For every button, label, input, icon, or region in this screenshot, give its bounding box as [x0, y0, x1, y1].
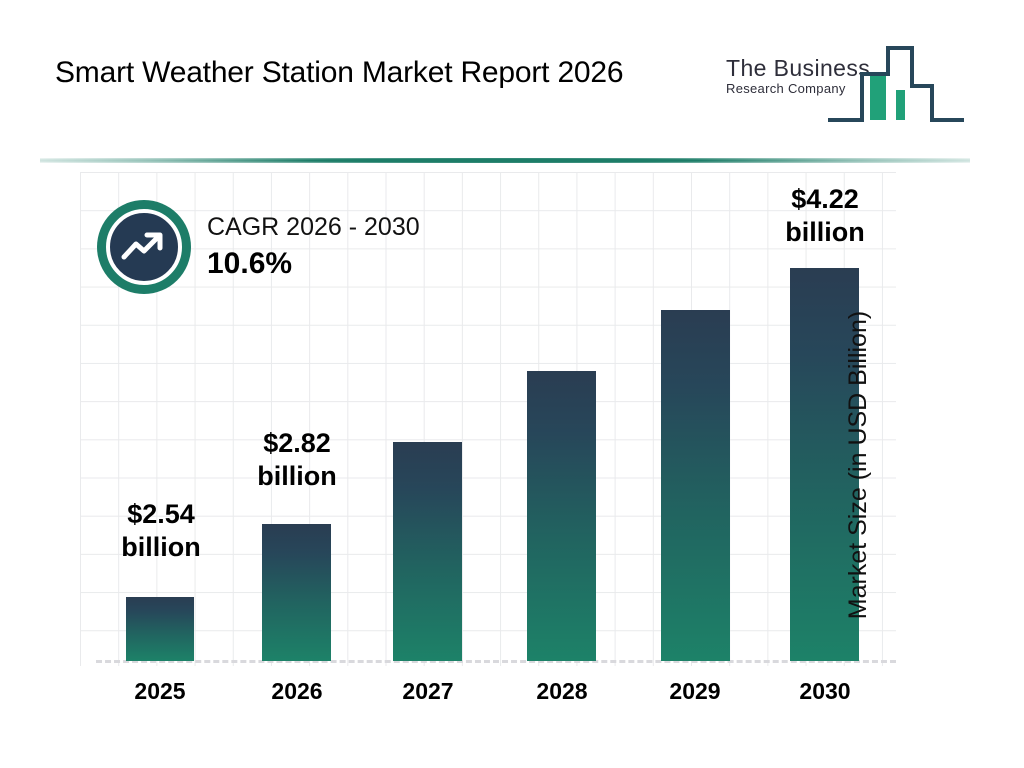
chart-baseline — [96, 660, 896, 663]
bar-2027[interactable] — [393, 442, 462, 661]
cagr-value-label: 10.6% — [207, 244, 420, 284]
value-label-2026-unit: billion — [232, 460, 362, 493]
x-tick-2028: 2028 — [502, 678, 622, 705]
cagr-badge — [97, 200, 191, 294]
cagr-callout: CAGR 2026 - 2030 10.6% — [97, 200, 517, 310]
value-label-2026-amount: $2.82 — [232, 427, 362, 460]
y-axis-title: Market Size (in USD Billion) — [844, 290, 873, 640]
bar-2028[interactable] — [527, 371, 596, 661]
bar-2025[interactable] — [126, 597, 194, 661]
x-tick-2026: 2026 — [237, 678, 357, 705]
value-label-2026: $2.82 billion — [232, 427, 362, 493]
value-label-2025: $2.54 billion — [96, 498, 226, 564]
value-label-2030-amount: $4.22 — [760, 183, 890, 216]
x-tick-2025: 2025 — [100, 678, 220, 705]
bar-2026[interactable] — [262, 524, 331, 661]
value-label-2025-amount: $2.54 — [96, 498, 226, 531]
value-label-2025-unit: billion — [96, 531, 226, 564]
x-tick-2030: 2030 — [765, 678, 885, 705]
cagr-period-label: CAGR 2026 - 2030 — [207, 210, 420, 244]
cagr-texts: CAGR 2026 - 2030 10.6% — [207, 210, 420, 284]
x-tick-2027: 2027 — [368, 678, 488, 705]
bar-chart: $2.54 billion $2.82 billion $4.22 billio… — [0, 0, 1024, 768]
trending-up-icon — [106, 209, 182, 285]
bar-2029[interactable] — [661, 310, 730, 661]
value-label-2030: $4.22 billion — [760, 183, 890, 249]
x-tick-2029: 2029 — [635, 678, 755, 705]
value-label-2030-unit: billion — [760, 216, 890, 249]
